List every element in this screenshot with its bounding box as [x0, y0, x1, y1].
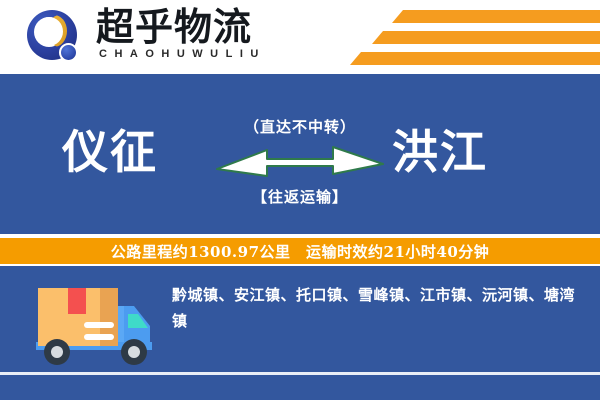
orange-stripes-icon: [350, 4, 600, 68]
logistics-route-banner: 超乎物流 CHAOHUWULIU 仪征 （直达不中转） 【往返运输】 洪江 公路…: [0, 0, 600, 400]
route-panel: 仪征 （直达不中转） 【往返运输】 洪江: [0, 74, 600, 234]
coverage-towns-list: 黔城镇、安江镇、托口镇、雪峰镇、江市镇、沅河镇、塘湾镇: [172, 282, 578, 334]
coverage-panel: 黔城镇、安江镇、托口镇、雪峰镇、江市镇、沅河镇、塘湾镇: [0, 266, 600, 400]
stripe-3: [350, 52, 600, 65]
arrow-shape: [217, 147, 383, 176]
brand-logo-icon: [27, 10, 83, 66]
logo-crescent-cut-shape: [35, 17, 63, 46]
destination-city: 洪江: [392, 124, 488, 180]
brand-name-cn: 超乎物流: [96, 6, 252, 48]
route-info-text: 公路里程约1300.97公里 运输时效约21小时40分钟: [111, 241, 490, 262]
route-info-bar: 公路里程约1300.97公里 运输时效约21小时40分钟: [0, 236, 600, 266]
speed-line-1: [84, 322, 114, 328]
truck-rear-hub: [51, 346, 63, 358]
logo-dot-shape: [59, 43, 78, 62]
brand-name-en: CHAOHUWULIU: [99, 48, 266, 60]
stripe-2: [372, 31, 600, 44]
double-headed-arrow-icon: [215, 142, 385, 180]
cargo-tape-shape: [68, 288, 86, 314]
direct-service-note: （直达不中转）: [0, 116, 600, 137]
header: 超乎物流 CHAOHUWULIU: [0, 0, 600, 72]
speed-line-2: [84, 334, 114, 340]
roundtrip-service-note: 【往返运输】: [0, 186, 600, 207]
delivery-truck-icon: [28, 276, 163, 376]
bottom-divider: [0, 372, 600, 375]
truck-front-hub: [128, 346, 140, 358]
stripe-1: [392, 10, 600, 23]
